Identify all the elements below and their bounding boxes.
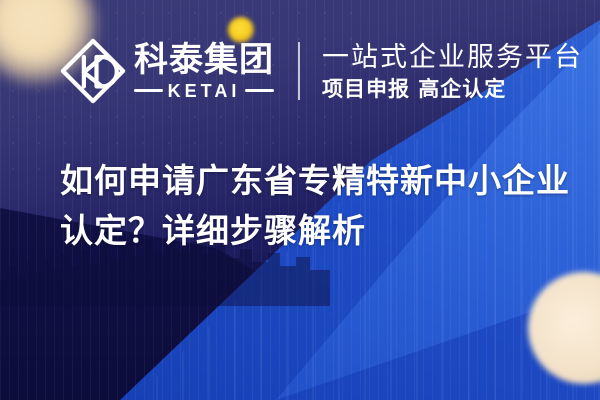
banner-header: 科泰集团 KETAI 一站式企业服务平台 项目申报 高企认定 — [58, 36, 583, 106]
header-divider — [298, 42, 300, 100]
logo-rule-left — [134, 89, 163, 92]
slogan-main: 一站式企业服务平台 — [322, 44, 583, 71]
headline-line-2: 认定？详细步骤解析 — [60, 206, 560, 256]
logo-name-en-row: KETAI — [134, 82, 274, 100]
slogan-block: 一站式企业服务平台 项目申报 高企认定 — [322, 44, 583, 99]
logo-name-en: KETAI — [168, 82, 241, 100]
ketai-diamond-monogram-icon — [58, 36, 128, 106]
logo-wordmark: 科泰集团 KETAI — [134, 43, 274, 100]
headline: 如何申请广东省专精特新中小企业 认定？详细步骤解析 — [60, 156, 560, 256]
slogan-sub: 项目申报 高企认定 — [322, 78, 583, 99]
logo-rule-right — [245, 89, 274, 92]
headline-line-1: 如何申请广东省专精特新中小企业 — [60, 156, 560, 206]
promo-banner: 科泰集团 KETAI 一站式企业服务平台 项目申报 高企认定 如何申请广东省专精… — [0, 0, 600, 400]
logo-name-cn: 科泰集团 — [134, 43, 274, 77]
